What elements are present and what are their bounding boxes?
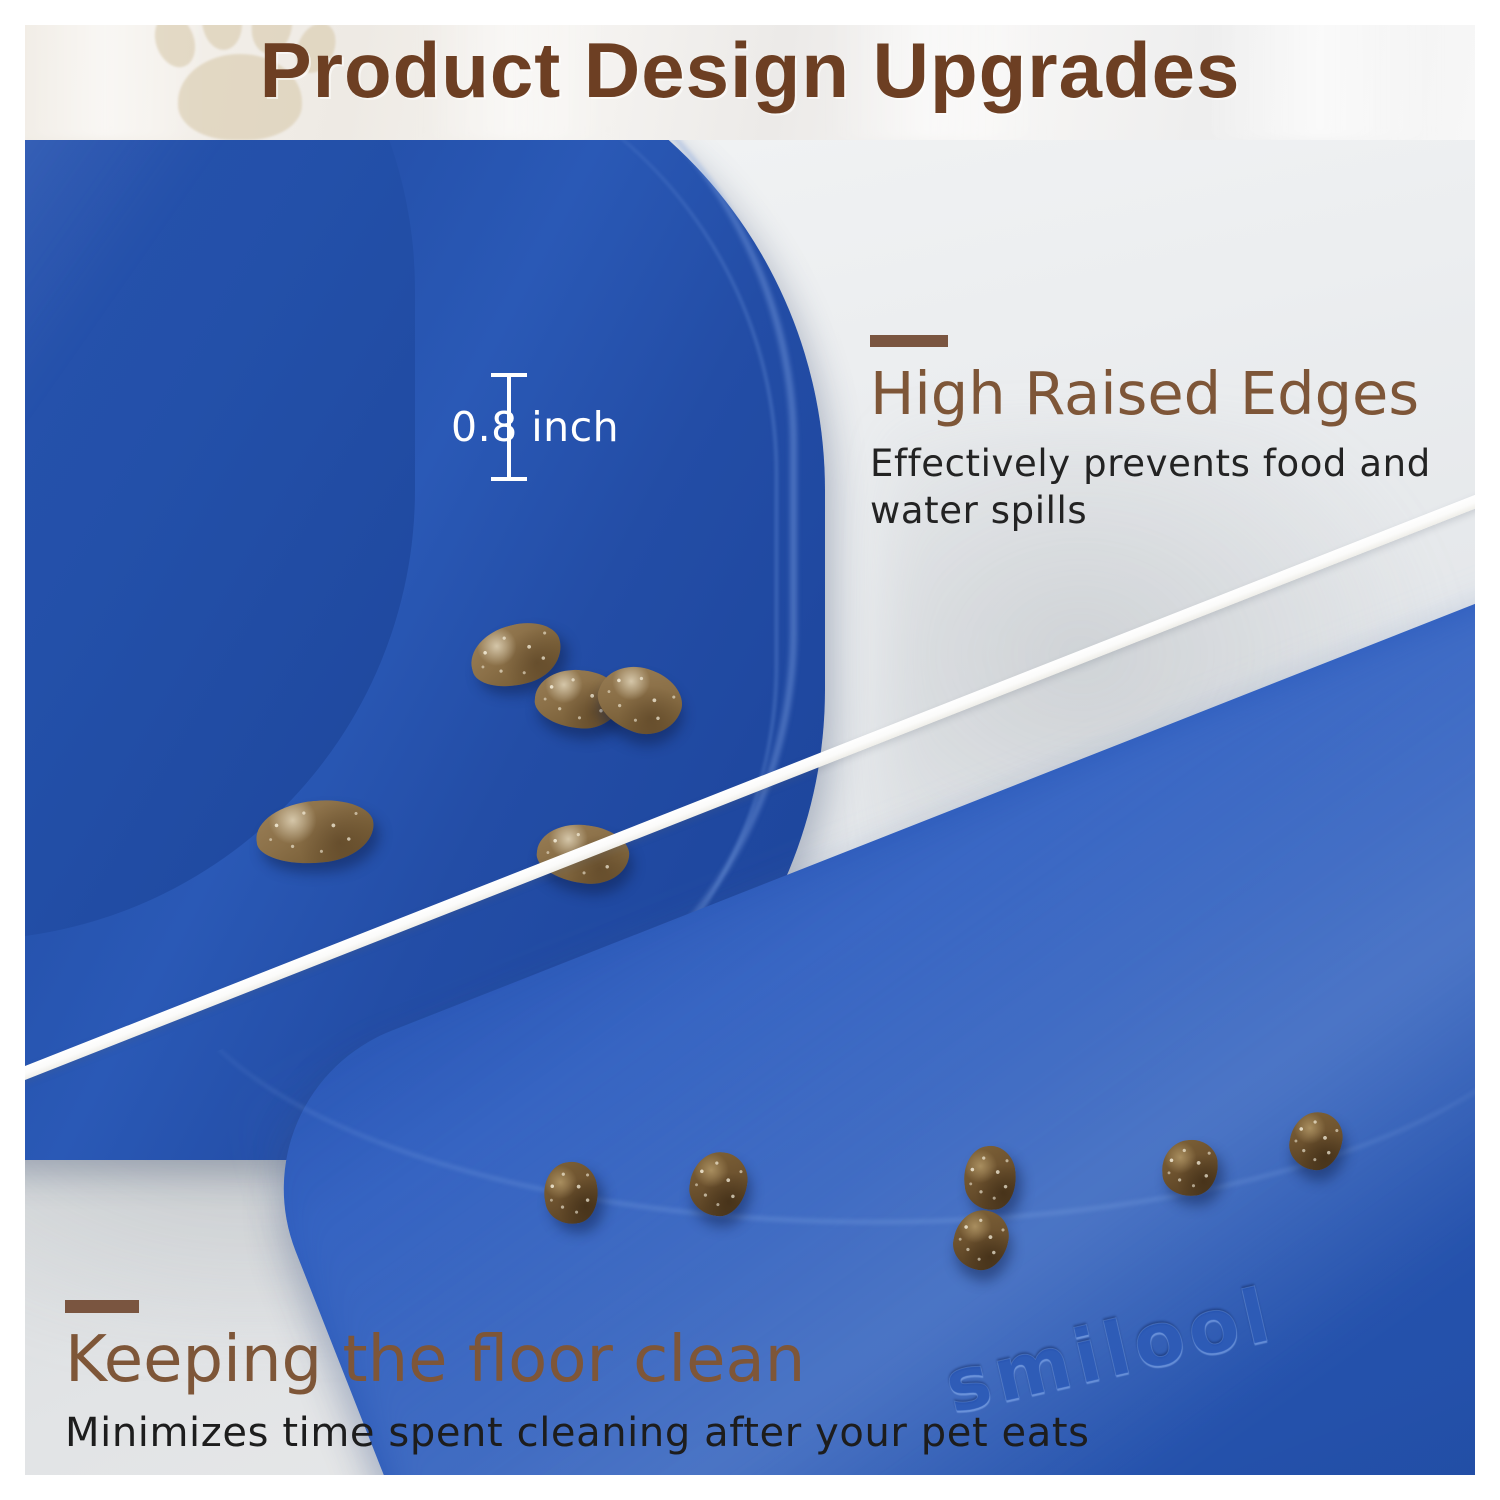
- callout-subtitle: Minimizes time spent cleaning after your…: [65, 1410, 1265, 1456]
- header-banner: Product Design Upgrades: [0, 0, 1500, 140]
- product-photo-composite: smilool 0.8 inch High Raised Edges Effec…: [25, 140, 1475, 1475]
- dimension-annotation: 0.8 inch: [445, 365, 645, 490]
- product-infographic: Product Design Upgrades: [0, 0, 1500, 1500]
- callout-title: High Raised Edges: [870, 363, 1475, 426]
- dimension-label: 0.8 inch: [451, 403, 619, 451]
- page-title: Product Design Upgrades: [0, 0, 1500, 140]
- callout-title: Keeping the floor clean: [65, 1327, 1265, 1394]
- dimension-cap-bottom-icon: [491, 477, 527, 481]
- accent-dash-icon: [870, 335, 948, 347]
- dimension-cap-top-icon: [491, 373, 527, 377]
- accent-dash-icon: [65, 1300, 139, 1313]
- callout-high-raised-edges: High Raised Edges Effectively prevents f…: [870, 335, 1475, 534]
- callout-subtitle: Effectively prevents food and water spil…: [870, 440, 1470, 535]
- callout-keeping-floor-clean: Keeping the floor clean Minimizes time s…: [65, 1300, 1265, 1456]
